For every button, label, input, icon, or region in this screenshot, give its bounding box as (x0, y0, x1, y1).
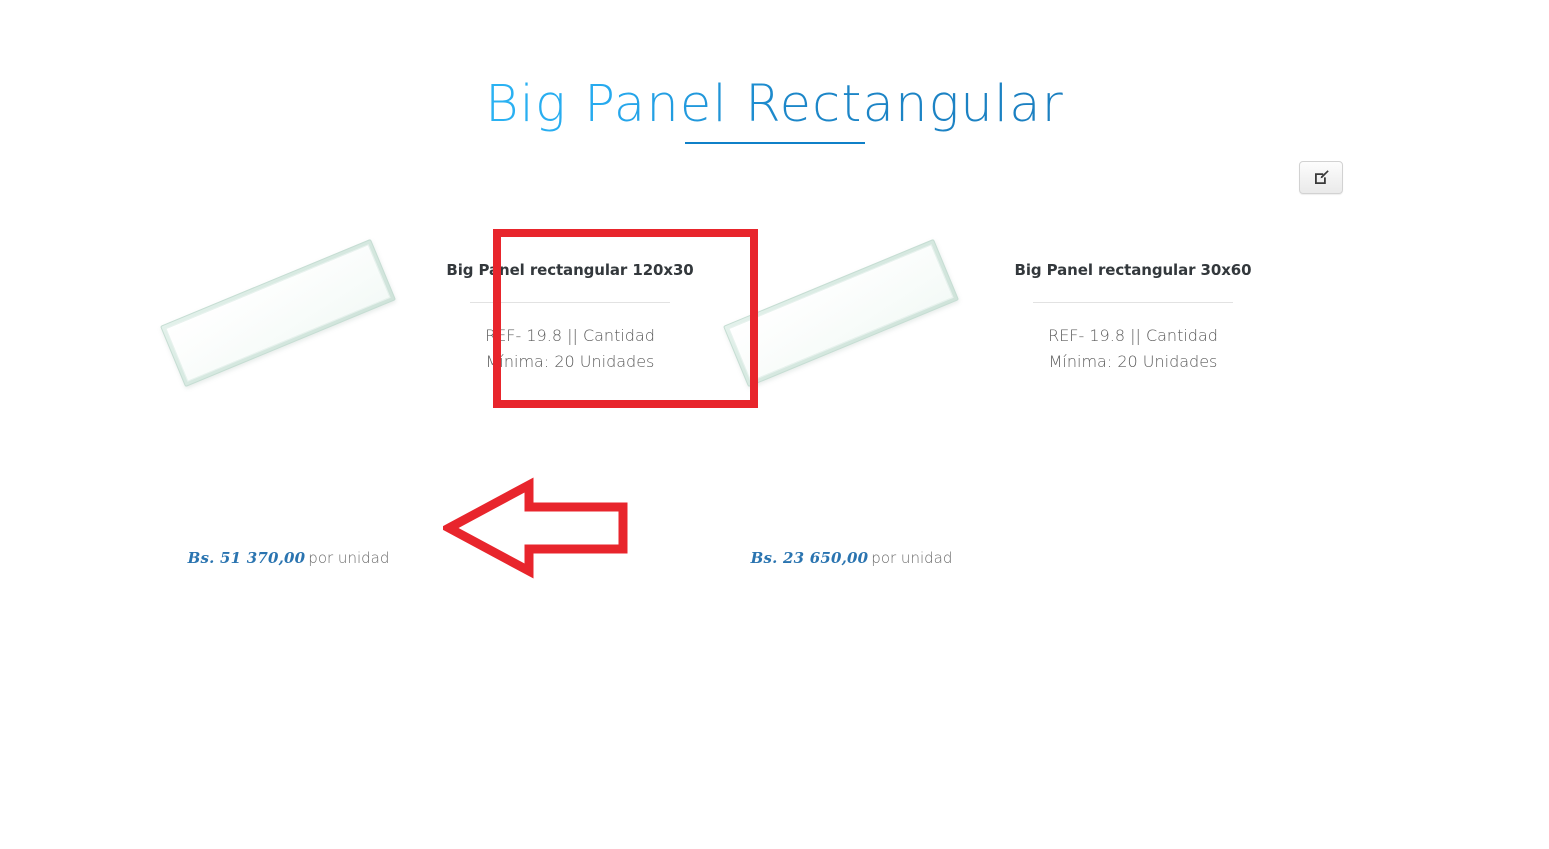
product-price: Bs. 51 370,00por unidad (148, 549, 429, 568)
price-suffix: por unidad (871, 549, 952, 567)
product-image-area[interactable] (148, 232, 429, 562)
led-panel-image (723, 239, 959, 387)
product-info: Big Panel rectangular 120x30 REF- 19.8 |… (429, 232, 711, 375)
product-price: Bs. 23 650,00por unidad (711, 549, 992, 568)
product-divider (470, 302, 670, 303)
product-name: Big Panel rectangular 30x60 (992, 260, 1274, 280)
product-info: Big Panel rectangular 30x60 REF- 19.8 ||… (992, 232, 1274, 375)
product-grid: Big Panel rectangular 120x30 REF- 19.8 |… (0, 0, 1549, 849)
led-panel-image (160, 239, 396, 387)
product-meta: REF- 19.8 || Cantidad Mínima: 20 Unidade… (429, 323, 711, 375)
product-card[interactable]: Big Panel rectangular 120x30 REF- 19.8 |… (148, 232, 711, 582)
price-value: Bs. 23 650,00 (751, 549, 869, 567)
product-name: Big Panel rectangular 120x30 (429, 260, 711, 280)
price-value: Bs. 51 370,00 (188, 549, 306, 567)
product-meta: REF- 19.8 || Cantidad Mínima: 20 Unidade… (992, 323, 1274, 375)
product-divider (1033, 302, 1233, 303)
price-suffix: por unidad (308, 549, 389, 567)
product-card[interactable]: Big Panel rectangular 30x60 REF- 19.8 ||… (711, 232, 1274, 582)
product-image-area[interactable] (711, 232, 992, 562)
